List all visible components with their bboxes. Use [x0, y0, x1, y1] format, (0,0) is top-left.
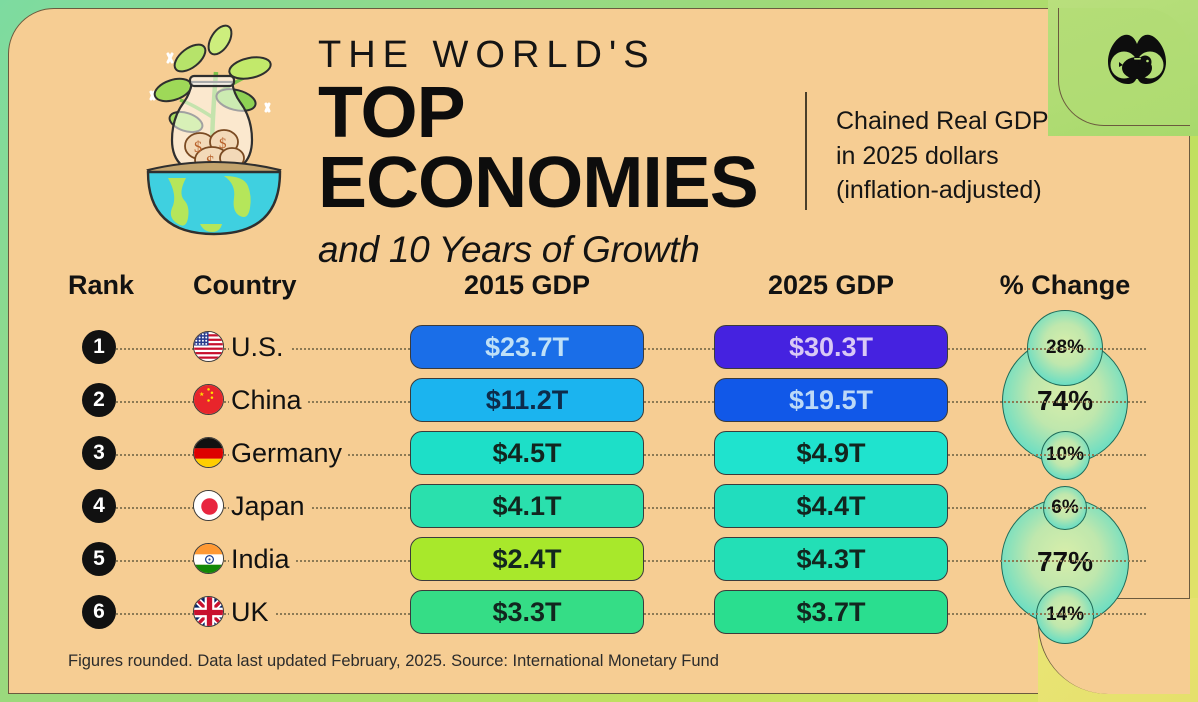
gdp-2015-bar: $3.3T [410, 590, 644, 634]
header-divider [805, 92, 807, 210]
flag-japan-icon [193, 490, 224, 521]
table-row: 1U.S.$23.7T$30.3T [0, 322, 1198, 375]
column-header-gdp-2015: 2015 GDP [410, 270, 644, 301]
gdp-2025-bar: $4.9T [714, 431, 948, 475]
gdp-2015-bar: $23.7T [410, 325, 644, 369]
flag-india-icon [193, 543, 224, 574]
flag-germany-icon [193, 437, 224, 468]
flag-uk-icon [193, 596, 224, 627]
gdp-2015-bar: $4.1T [410, 484, 644, 528]
gdp-2025-bar: $3.7T [714, 590, 948, 634]
column-header-gdp-2025: 2025 GDP [714, 270, 948, 301]
table-row: 5India$2.4T$4.3T [0, 534, 1198, 587]
page-title: TOP ECONOMIES [318, 78, 797, 219]
flag-china-icon [193, 384, 224, 415]
table-row: 4Japan$4.1T$4.4T [0, 481, 1198, 534]
rank-badge: 6 [82, 595, 116, 629]
country-name: U.S. [229, 330, 290, 364]
gdp-2025-bar: $4.3T [714, 537, 948, 581]
plant-in-jar-globe-illustration: $ $ $ [128, 18, 300, 244]
table-body: 1U.S.$23.7T$30.3T2China$11.2T$19.5T3Germ… [0, 322, 1198, 640]
country-name: China [229, 383, 308, 417]
rank-badge: 4 [82, 489, 116, 523]
gdp-2015-bar: $2.4T [410, 537, 644, 581]
table-row: 6UK$3.3T$3.7T [0, 587, 1198, 640]
column-header-percent-change: % Change [985, 270, 1145, 301]
rank-badge: 2 [82, 383, 116, 417]
column-header-rank: Rank [68, 270, 134, 301]
rank-badge: 1 [82, 330, 116, 364]
table-header: Rank Country 2015 GDP 2025 GDP % Change [0, 270, 1198, 310]
country-name: UK [229, 595, 275, 629]
gdp-2015-bar: $4.5T [410, 431, 644, 475]
svg-text:$: $ [194, 139, 202, 156]
page-subtitle: and 10 Years of Growth [318, 229, 788, 271]
eyebrow-text: THE WORLD'S [318, 36, 788, 76]
rank-badge: 3 [82, 436, 116, 470]
gdp-2025-bar: $19.5T [714, 378, 948, 422]
gdp-2025-bar: $4.4T [714, 484, 948, 528]
rank-badge: 5 [82, 542, 116, 576]
gdp-2015-bar: $11.2T [410, 378, 644, 422]
svg-text:$: $ [219, 136, 227, 152]
title-block: THE WORLD'S TOP ECONOMIES and 10 Years o… [318, 36, 788, 271]
country-name: Japan [229, 489, 311, 523]
footnote: Figures rounded. Data last updated Febru… [68, 652, 719, 671]
table-row: 3Germany$4.5T$4.9T [0, 428, 1198, 481]
gdp-2025-bar: $30.3T [714, 325, 948, 369]
flag-usa-icon [193, 331, 224, 362]
country-name: India [229, 542, 296, 576]
column-header-country: Country [193, 270, 297, 301]
table-row: 2China$11.2T$19.5T [0, 375, 1198, 428]
visual-capitalist-logo-icon [1104, 30, 1170, 88]
country-name: Germany [229, 436, 348, 470]
header: $ $ $ THE WORLD'S TOP ECONOMIES and 10 Y… [0, 0, 1198, 250]
